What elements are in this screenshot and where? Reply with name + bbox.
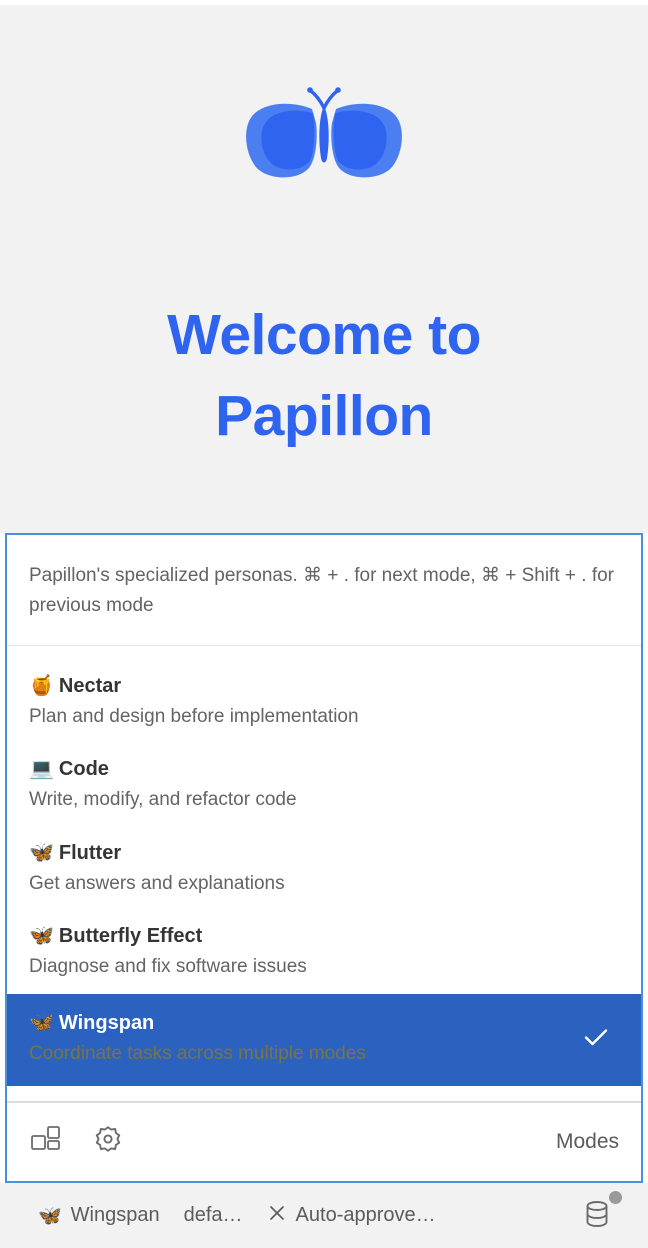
mode-title: 🦋Flutter [29, 837, 619, 868]
welcome-hero: Welcome to Papillon [0, 0, 648, 533]
butterfly-emoji: 🦋 [38, 1204, 62, 1227]
mode-title: 🦋Wingspan [29, 1007, 366, 1038]
status-profile-selector[interactable]: defa… [172, 1198, 255, 1233]
top-strip [0, 0, 648, 5]
footer-icon-group [29, 1123, 125, 1162]
mode-title: 💻Code [29, 753, 619, 784]
mode-item-nectar[interactable]: 🍯Nectar Plan and design before implement… [7, 660, 641, 743]
mode-title-label: Flutter [59, 842, 121, 864]
mcp-servers-icon[interactable] [29, 1123, 63, 1162]
mode-title-label: Butterfly Effect [59, 925, 202, 947]
status-context-button[interactable] [576, 1191, 622, 1241]
status-mode-selector[interactable]: 🦋 Wingspan [26, 1198, 172, 1233]
panel-footer: Modes [7, 1101, 641, 1181]
status-auto-approve[interactable]: Auto-approve… [255, 1197, 448, 1235]
mode-title: 🦋Butterfly Effect [29, 920, 619, 951]
panel-header: Papillon's specialized personas. ⌘ + . f… [7, 535, 641, 646]
laptop-emoji: 💻 [29, 756, 54, 780]
butterfly-emoji: 🦋 [29, 923, 54, 947]
honey-pot-emoji: 🍯 [29, 673, 54, 697]
butterfly-logo-icon [234, 82, 414, 187]
status-mode-label: Wingspan [71, 1204, 160, 1227]
close-x-icon [267, 1203, 287, 1229]
mode-item-flutter[interactable]: 🦋Flutter Get answers and explanations [7, 827, 641, 910]
modes-label[interactable]: Modes [556, 1130, 619, 1154]
status-profile-label: defa… [184, 1204, 243, 1227]
mode-title-label: Nectar [59, 675, 121, 697]
mode-selector-panel: Papillon's specialized personas. ⌘ + . f… [5, 533, 643, 1183]
checkmark-icon [581, 1025, 611, 1054]
mode-list: 🍯Nectar Plan and design before implement… [7, 646, 641, 1101]
mode-description: Coordinate tasks across multiple modes [29, 1039, 366, 1068]
panel-header-description: Papillon's specialized personas. ⌘ + . f… [29, 561, 619, 621]
butterfly-emoji: 🦋 [29, 1010, 54, 1034]
status-auto-approve-label: Auto-approve… [296, 1204, 436, 1227]
mode-item-wingspan[interactable]: 🦋Wingspan Coordinate tasks across multip… [7, 994, 641, 1086]
mode-description: Plan and design before implementation [29, 702, 619, 731]
mode-title-label: Code [59, 758, 109, 780]
settings-gear-icon[interactable] [91, 1123, 125, 1162]
mode-item-butterfly-effect[interactable]: 🦋Butterfly Effect Diagnose and fix softw… [7, 910, 641, 993]
mode-description: Write, modify, and refactor code [29, 785, 619, 814]
butterfly-emoji: 🦋 [29, 840, 54, 864]
page-title: Welcome to Papillon [94, 295, 554, 457]
mode-description: Diagnose and fix software issues [29, 952, 619, 981]
status-context-badge [609, 1191, 622, 1204]
mode-title: 🍯Nectar [29, 670, 619, 701]
mode-description: Get answers and explanations [29, 869, 619, 898]
mode-item-code[interactable]: 💻Code Write, modify, and refactor code [7, 743, 641, 826]
mode-title-label: Wingspan [59, 1012, 154, 1034]
status-bar: 🦋 Wingspan defa… Auto-approve… [0, 1183, 648, 1248]
